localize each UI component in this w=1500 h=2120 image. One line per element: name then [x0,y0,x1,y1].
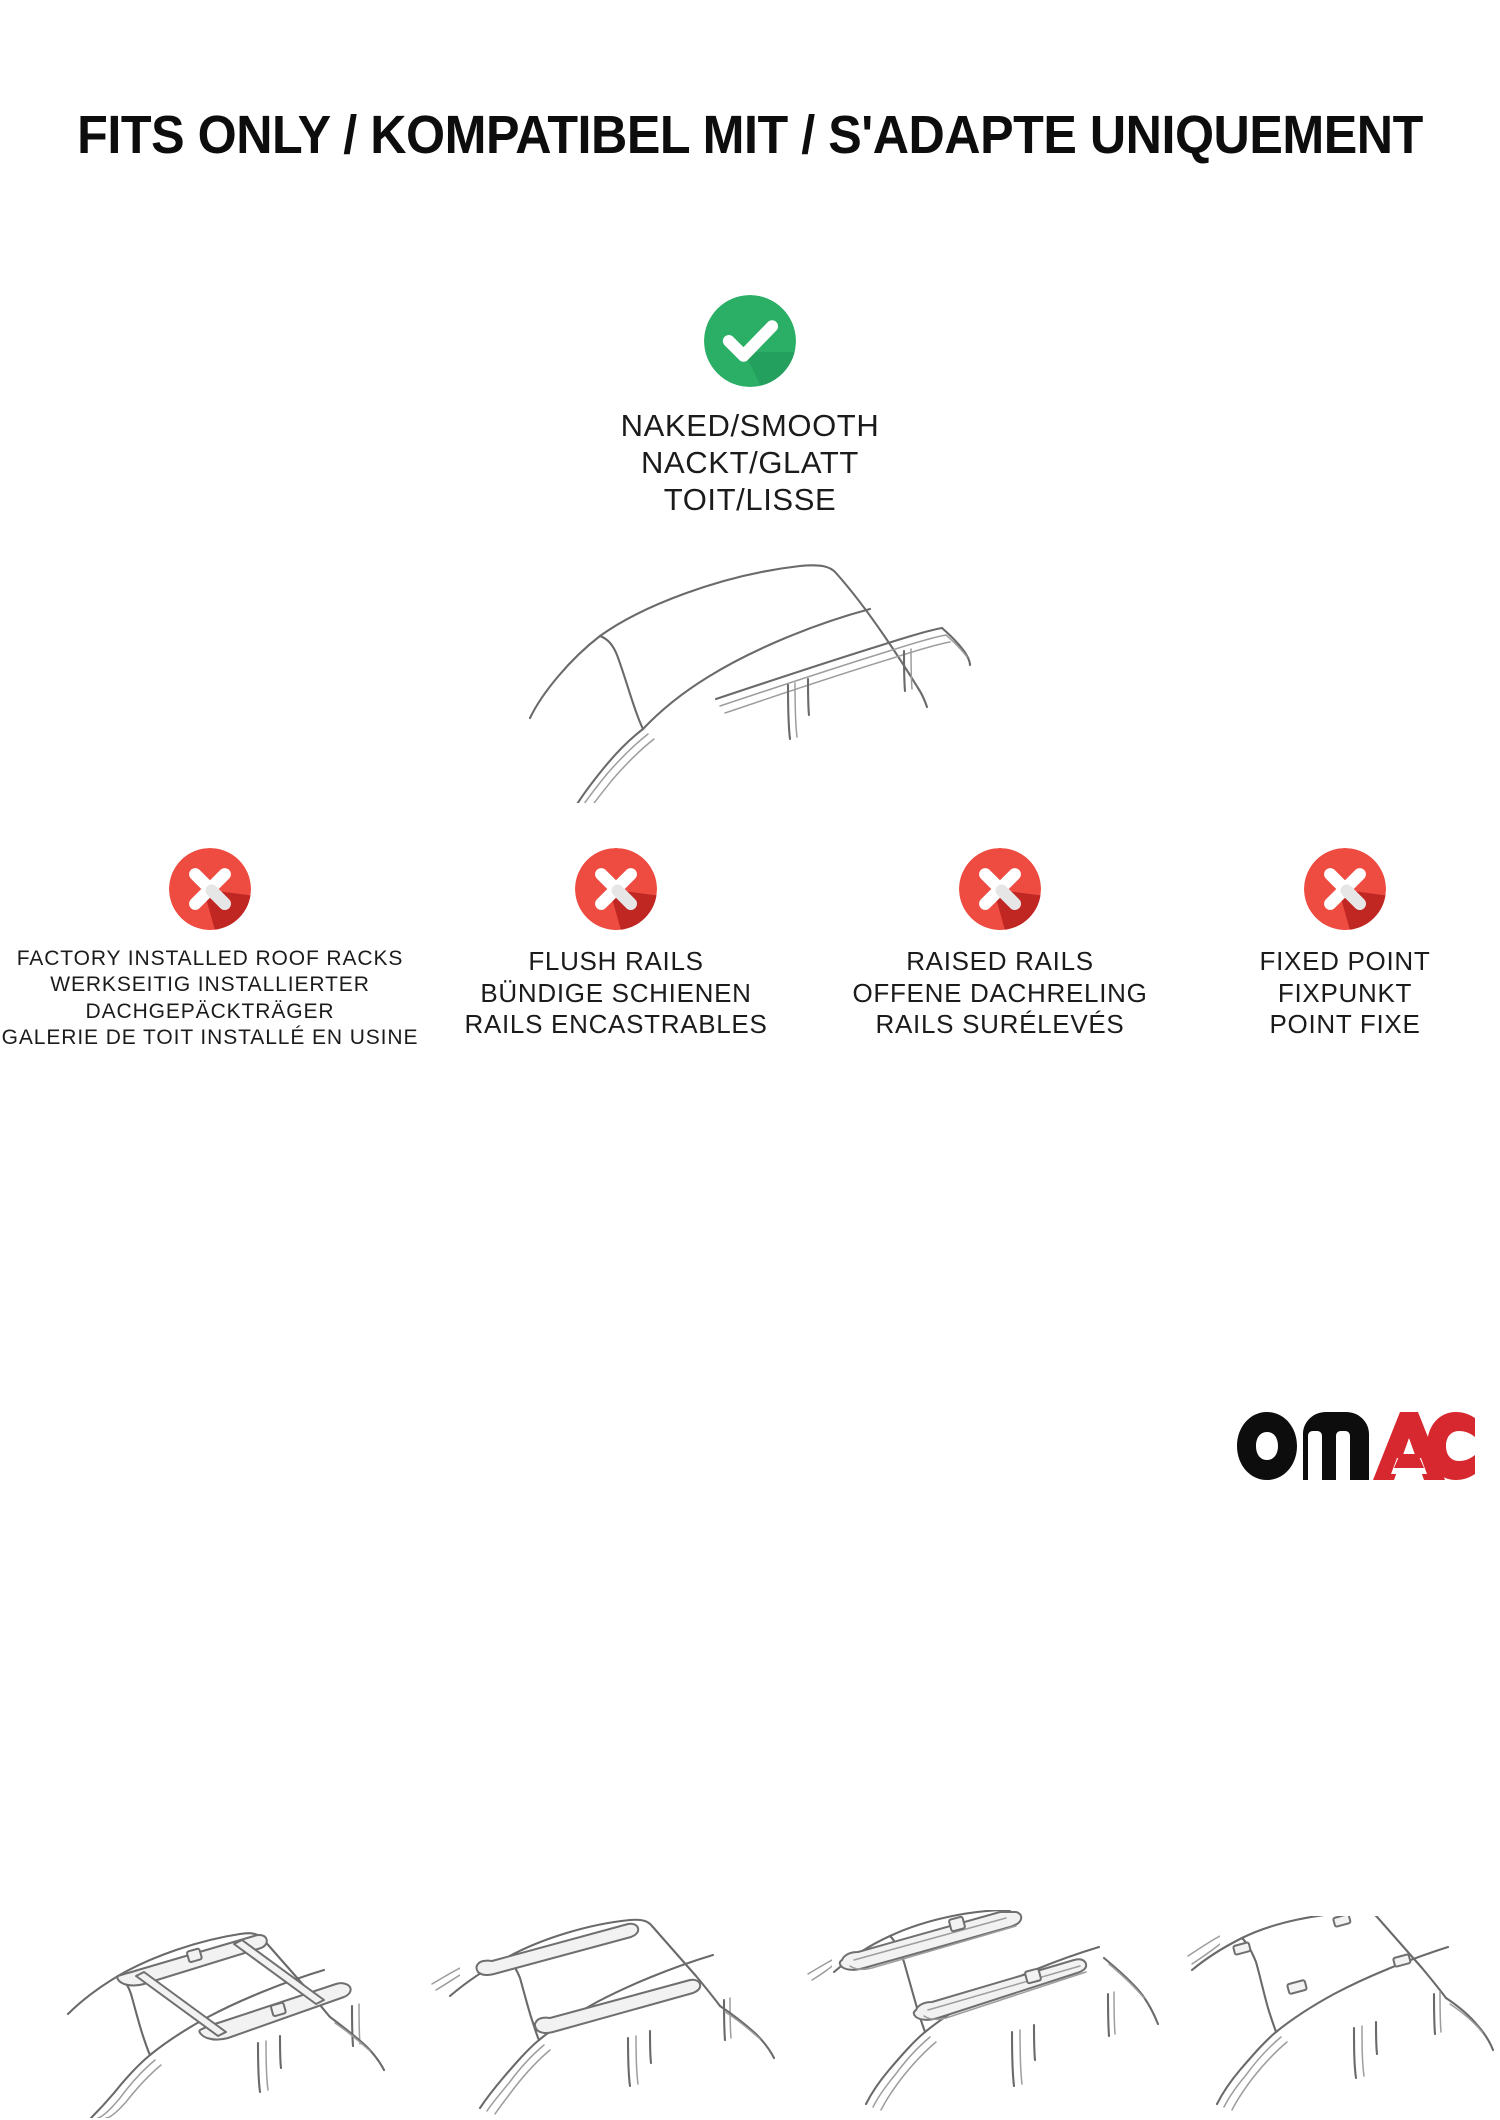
label-line-de-1: WERKSEITIG INSTALLIERTER [2,972,419,998]
compatible-roof-type-section: NAKED/SMOOTH NACKT/GLATT TOIT/LISSE [0,295,1500,803]
car-roof-flush-rails-illustration [432,1918,832,2118]
label-line-de: BÜNDIGE SCHIENEN [464,978,767,1010]
car-roof-naked-smooth-illustration [470,533,1030,803]
label-line-de: OFFENE DACHRELING [852,978,1147,1010]
check-circle-icon [704,295,796,387]
label-line-fr: TOIT/LISSE [621,481,880,518]
car-roof-raised-rails-illustration [820,1910,1220,2120]
page-title: FITS ONLY / KOMPATIBEL MIT / S'ADAPTE UN… [53,104,1448,166]
label-line-en: FIXED POINT [1260,946,1431,978]
incompatible-roof-type-factory-installed-roof-racks: FACTORY INSTALLED ROOF RACKS WERKSEITIG … [10,848,410,1052]
label-line-fr: POINT FIXE [1260,1009,1431,1041]
label-line-de: NACKT/GLATT [621,444,880,481]
incompatible-roof-type-label: FACTORY INSTALLED ROOF RACKS WERKSEITIG … [2,946,419,1052]
incompatible-roof-type-label: RAISED RAILS OFFENE DACHRELING RAILS SUR… [852,946,1147,1041]
label-line-en: FLUSH RAILS [464,946,767,978]
incompatible-roof-type-fixed-point: FIXED POINT FIXPUNKT POINT FIXE [1190,848,1500,1041]
label-line-en: NAKED/SMOOTH [621,407,880,444]
cross-circle-icon [1304,848,1386,930]
cross-circle-icon [959,848,1041,930]
logo-letter-m [1303,1412,1369,1480]
incompatible-roof-type-label: FLUSH RAILS BÜNDIGE SCHIENEN RAILS ENCAS… [464,946,767,1041]
cross-circle-icon [169,848,251,930]
incompatible-roof-type-flush-rails: FLUSH RAILS BÜNDIGE SCHIENEN RAILS ENCAS… [430,848,802,1041]
label-line-en: FACTORY INSTALLED ROOF RACKS [2,946,419,972]
label-line-de: FIXPUNKT [1260,978,1431,1010]
car-roof-factory-installed-roof-racks-illustration [40,1918,460,2118]
label-line-fr: RAILS SURÉLEVÉS [852,1009,1147,1041]
label-line-fr: GALERIE DE TOIT INSTALLÉ EN USINE [2,1025,419,1051]
car-roof-fixed-point-illustration [1186,1916,1500,2116]
compatible-roof-type-label: NAKED/SMOOTH NACKT/GLATT TOIT/LISSE [621,407,880,519]
incompatible-roof-type-raised-rails: RAISED RAILS OFFENE DACHRELING RAILS SUR… [812,848,1188,1041]
label-line-fr: RAILS ENCASTRABLES [464,1009,767,1041]
label-line-en: RAISED RAILS [852,946,1147,978]
logo-letter-o [1237,1412,1297,1480]
incompatible-roof-type-label: FIXED POINT FIXPUNKT POINT FIXE [1260,946,1431,1041]
omac-logo [1237,1410,1475,1482]
label-line-de-2: DACHGEPÄCKTRÄGER [2,999,419,1025]
cross-circle-icon [575,848,657,930]
incompatible-roof-types-section: FACTORY INSTALLED ROOF RACKS WERKSEITIG … [0,848,1500,1268]
